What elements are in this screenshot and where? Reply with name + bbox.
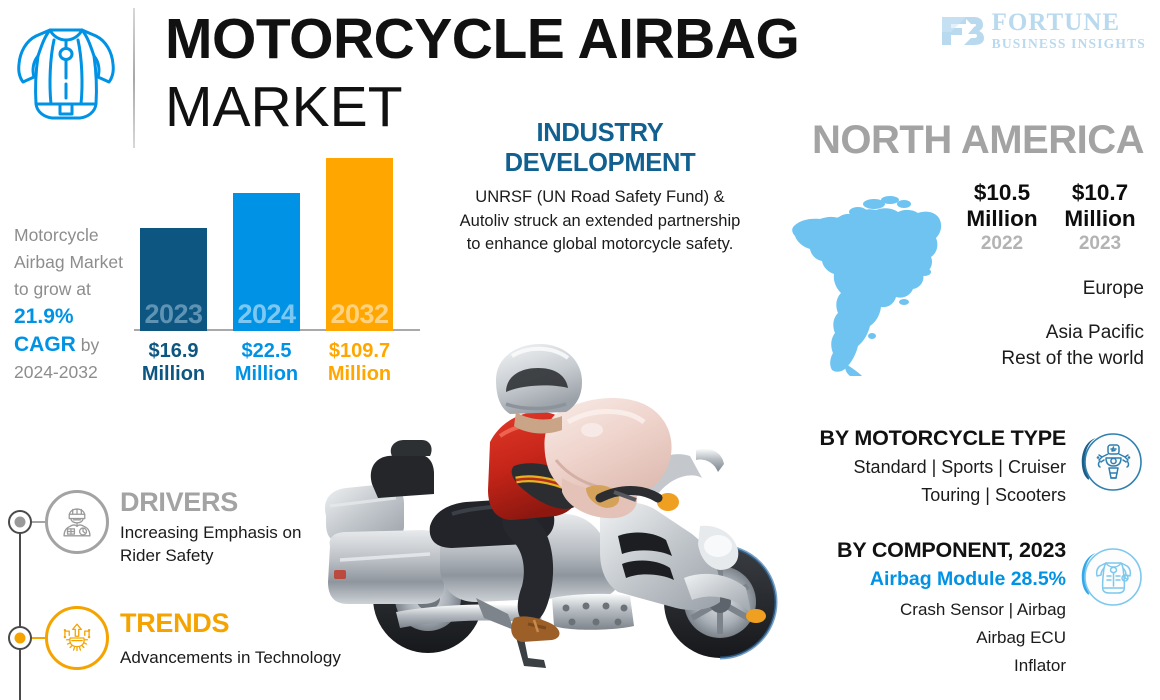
gear-innovation-icon — [58, 619, 96, 657]
bar-column: 2023 $16.9 Million — [140, 228, 207, 331]
cagr-period: 2024-2032 — [14, 362, 98, 382]
bar-value-amount: $22.5 — [225, 340, 308, 363]
region-amount-unit: Million — [956, 206, 1048, 232]
industry-development-block: INDUSTRY DEVELOPMENT UNRSF (UN Road Safe… — [452, 118, 748, 257]
component-row-1: Crash Sensor | Airbag — [900, 600, 1066, 620]
motorcycle-rider-airbag-image — [300, 330, 820, 680]
industry-title-line1: INDUSTRY — [452, 118, 748, 148]
timeline-heading-drivers: DRIVERS — [120, 487, 238, 518]
cagr-label: CAGR — [14, 333, 76, 356]
region-amount-value: $10.7 — [1054, 180, 1146, 206]
region-row-rest-of-world: Rest of the world — [1001, 348, 1144, 370]
scooter-icon — [1080, 430, 1144, 494]
rider-helmet-icon — [58, 503, 96, 541]
region-year: 2022 — [956, 233, 1048, 255]
bar-year-label: 2032 — [330, 299, 388, 331]
bar-value-unit: Million — [132, 363, 215, 386]
industry-development-title: INDUSTRY DEVELOPMENT — [452, 118, 748, 178]
fb-monogram-icon — [940, 8, 984, 52]
bar-2023: 2023 — [140, 228, 207, 331]
component-row-2: Airbag ECU — [976, 628, 1066, 648]
industry-development-body: UNRSF (UN Road Safety Fund) & Autoliv st… — [452, 186, 748, 257]
page-subtitle: MARKET — [165, 76, 403, 138]
region-amount-value: $10.5 — [956, 180, 1048, 206]
bar-2032: 2032 — [326, 158, 393, 331]
bar-value-label: $16.9 Million — [132, 331, 215, 386]
region-year: 2023 — [1054, 233, 1146, 255]
timeline-node-drivers — [8, 510, 32, 534]
bar-value-label: $22.5 Million — [225, 331, 308, 386]
bar-2024: 2024 — [233, 193, 300, 331]
bar-year-label: 2024 — [237, 299, 295, 331]
timeline-axis — [19, 512, 21, 700]
segment-row-motorcycle-type-1: Standard | Sports | Cruiser — [854, 457, 1066, 478]
bar-column: 2032 $109.7 Million — [326, 158, 393, 331]
timeline-node-trends — [8, 626, 32, 650]
cagr-by-text: by — [76, 335, 99, 355]
cagr-statement: Motorcycle Airbag Market to grow at 21.9… — [14, 222, 126, 386]
component-highlight: Airbag Module 28.5% — [870, 568, 1066, 591]
industry-title-line2: DEVELOPMENT — [452, 148, 748, 178]
bar-value-unit: Million — [225, 363, 308, 386]
cagr-rate: 21.9% — [14, 305, 74, 328]
component-row-3: Inflator — [1014, 656, 1066, 676]
region-amount-unit: Million — [1054, 206, 1146, 232]
brand-name: FORTUNE — [992, 10, 1146, 35]
region-row-asia-pacific: Asia Pacific — [1046, 322, 1144, 344]
timeline-heading-trends: TRENDS — [120, 608, 229, 639]
region-title: NORTH AMERICA — [812, 118, 1144, 163]
segment-row-motorcycle-type-2: Touring | Scooters — [921, 485, 1066, 506]
infographic-canvas: MOTORCYCLE AIRBAG MARKET FORTUNE BUSINES… — [0, 0, 1160, 700]
airbag-vest-badge-icon — [1080, 545, 1144, 609]
brand-logo: FORTUNE BUSINESS INSIGHTS — [940, 8, 1146, 52]
timeline-badge-drivers — [45, 490, 109, 554]
timeline-badge-trends — [45, 606, 109, 670]
page-title: MOTORCYCLE AIRBAG — [165, 8, 799, 70]
title-divider — [133, 8, 135, 148]
bar-year-label: 2023 — [144, 299, 202, 331]
bar-value-amount: $16.9 — [132, 340, 215, 363]
segment-heading-motorcycle-type: BY MOTORCYCLE TYPE — [820, 426, 1066, 451]
region-amount: $10.5 Million — [956, 180, 1048, 232]
timeline-body-drivers: Increasing Emphasis on Rider Safety — [120, 521, 305, 567]
segment-heading-component: BY COMPONENT, 2023 — [837, 538, 1066, 563]
bar-column: 2024 $22.5 Million — [233, 193, 300, 331]
brand-tagline: BUSINESS INSIGHTS — [992, 37, 1146, 51]
region-figure-2022: $10.5 Million 2022 — [956, 180, 1048, 255]
airbag-vest-icon — [14, 14, 118, 126]
region-row-europe: Europe — [1083, 278, 1144, 300]
region-amount: $10.7 Million — [1054, 180, 1146, 232]
region-figure-2023: $10.7 Million 2023 — [1054, 180, 1146, 255]
cagr-lead-text: Motorcycle Airbag Market to grow at — [14, 225, 123, 299]
